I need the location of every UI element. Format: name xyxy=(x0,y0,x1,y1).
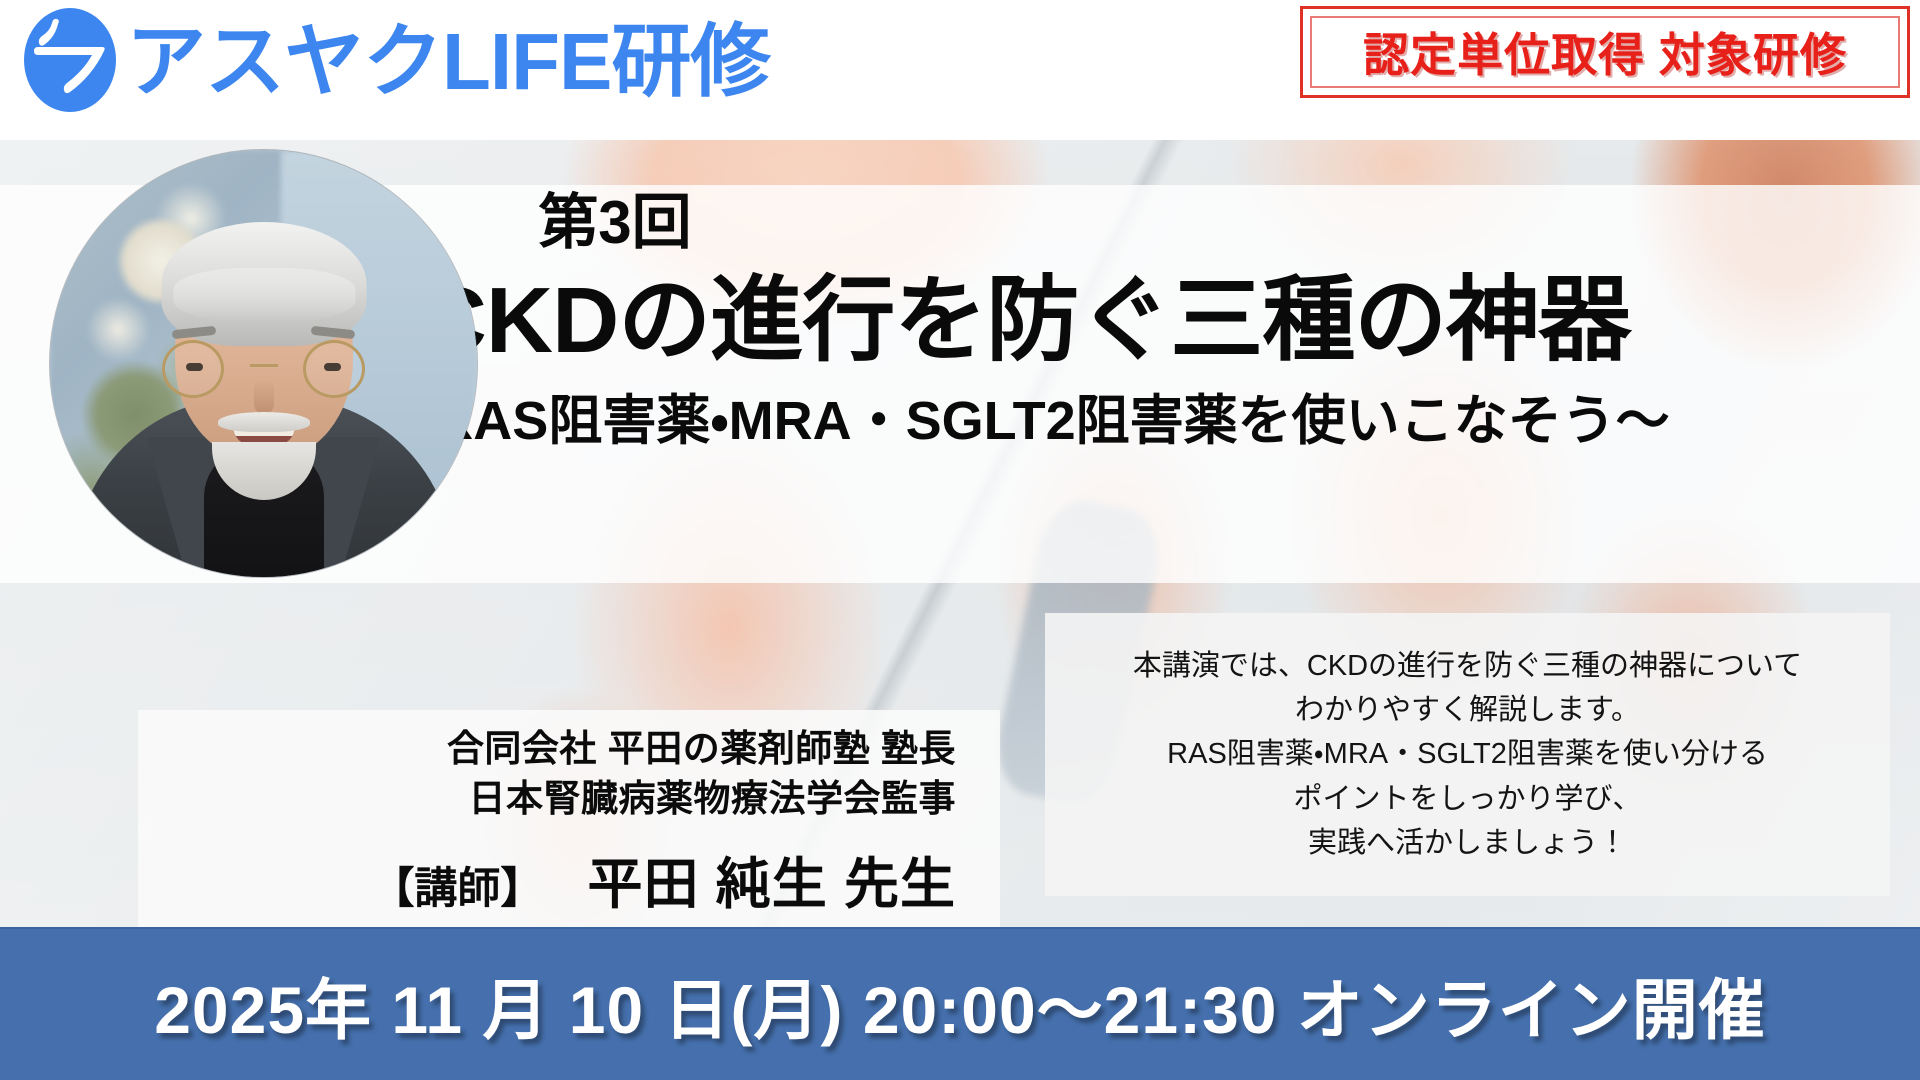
speaker-affiliations: 合同会社 平田の薬剤師塾 塾長 日本腎臓病薬物療法学会監事 xyxy=(164,724,974,825)
speaker-info-panel: 合同会社 平田の薬剤師塾 塾長 日本腎臓病薬物療法学会監事 【講師】 平田 純生… xyxy=(138,710,1000,927)
brand-name: アスヤクLIFE研修 xyxy=(126,22,769,102)
certification-badge-label: 認定単位取得 対象研修 xyxy=(1363,19,1847,85)
description-line: 実践へ活かしましょう！ xyxy=(1308,821,1627,865)
asuyaku-circle-a-icon xyxy=(14,4,126,116)
description-line: わかりやすく解説します。 xyxy=(1295,688,1640,732)
event-datetime-bar: 2025年 11 月 10 日(月) 20:00〜21:30 オンライン開催 xyxy=(0,927,1920,1080)
speaker-org-line-2: 日本腎臓病薬物療法学会監事 xyxy=(164,774,956,824)
portrait-glasses-right-lens xyxy=(303,340,365,398)
description-line: ポイントをしっかり学び、 xyxy=(1293,777,1641,821)
portrait-moustache xyxy=(218,412,310,432)
speaker-name-row: 【講師】 平田 純生 先生 xyxy=(164,839,974,919)
seminar-poster: アスヤクLIFE研修 認定単位取得 対象研修 第3回 CKDの進行を防ぐ三種の神… xyxy=(0,0,1920,1080)
speaker-role-label: 【講師】 xyxy=(371,854,543,916)
description-line: 本講演では、CKDの進行を防ぐ三種の神器について xyxy=(1133,644,1802,688)
seminar-description-panel: 本講演では、CKDの進行を防ぐ三種の神器について わかりやすく解説します。 RA… xyxy=(1045,613,1890,896)
event-datetime-text: 2025年 11 月 10 日(月) 20:00〜21:30 オンライン開催 xyxy=(154,957,1766,1053)
speaker-org-line-1: 合同会社 平田の薬剤師塾 塾長 xyxy=(164,724,956,774)
speaker-name: 平田 純生 先生 xyxy=(587,839,956,919)
certification-badge: 認定単位取得 対象研修 xyxy=(1300,6,1910,98)
portrait-nose xyxy=(254,380,274,414)
portrait-glasses-bridge xyxy=(250,364,278,367)
portrait-glasses-left-lens xyxy=(162,340,224,398)
brand-lockup: アスヤクLIFE研修 xyxy=(14,4,769,116)
speaker-portrait-avatar xyxy=(50,150,477,577)
certification-badge-inner-frame: 認定単位取得 対象研修 xyxy=(1310,16,1900,88)
description-line: RAS阻害薬・MRA・SGLT2阻害薬を使い分ける xyxy=(1167,732,1768,776)
page-header: アスヤクLIFE研修 認定単位取得 対象研修 xyxy=(0,0,1920,140)
